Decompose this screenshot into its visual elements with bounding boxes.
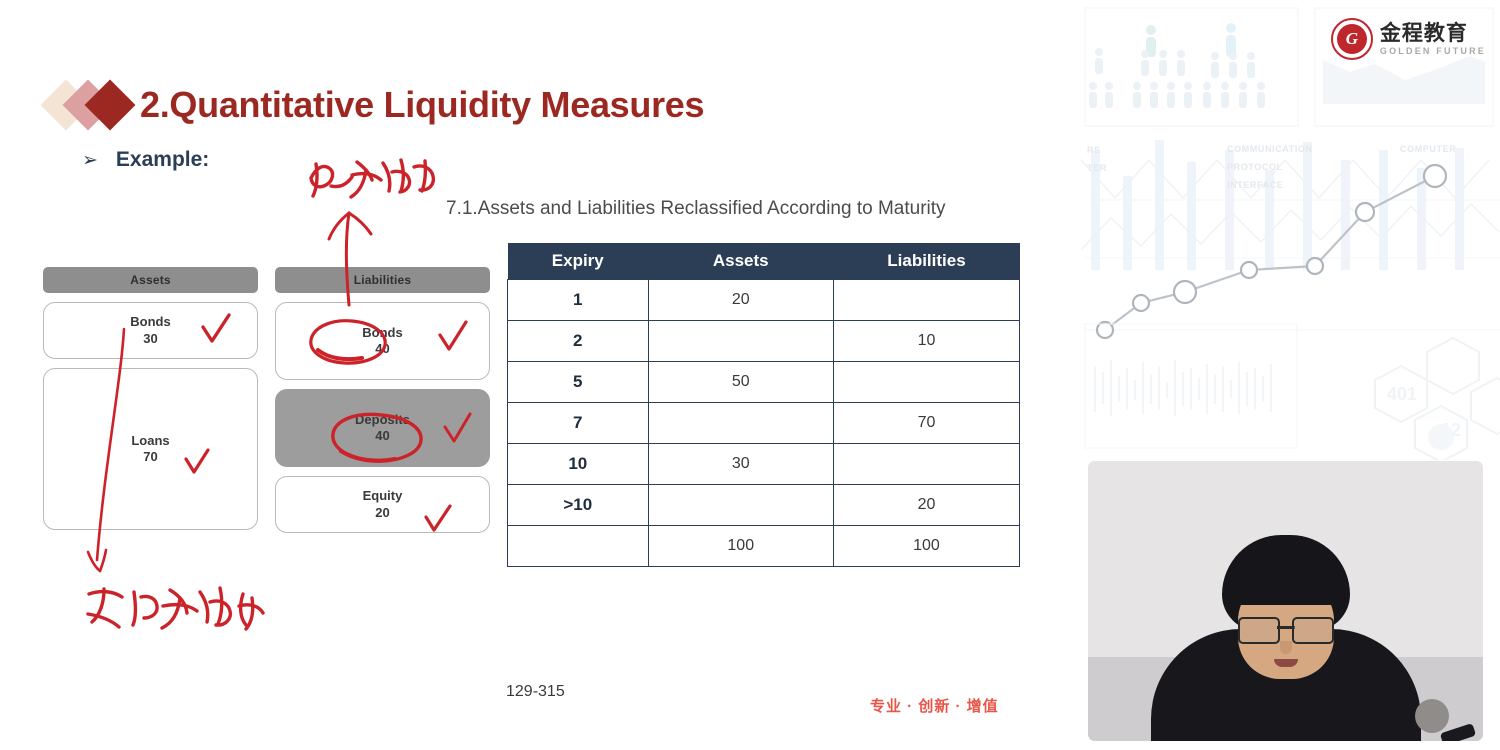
cell-liabilities bbox=[833, 444, 1019, 485]
cell-liabilities: 10 bbox=[833, 321, 1019, 362]
cell-assets: 20 bbox=[648, 280, 833, 321]
assets-column-header: Assets bbox=[43, 267, 258, 293]
slide-area: 2.Quantitative Liquidity Measures ➢ Exam… bbox=[0, 0, 1075, 750]
assets-item-bonds-label: Bonds bbox=[130, 314, 170, 330]
title-diamond-decoration bbox=[48, 78, 134, 132]
brand-logo: G 金程教育 GOLDEN FUTURE bbox=[1331, 18, 1486, 60]
table-col-liabilities: Liabilities bbox=[833, 243, 1019, 280]
art-label-protocol: PROTOCOL bbox=[1227, 162, 1283, 172]
instructor-glasses bbox=[1236, 617, 1336, 641]
brand-name-en: GOLDEN FUTURE bbox=[1380, 46, 1486, 56]
liabilities-item-bonds: Bonds 40 bbox=[275, 302, 490, 380]
table-row: 2 10 bbox=[508, 321, 1020, 362]
handwritten-note-top bbox=[311, 160, 433, 197]
liabilities-column: Liabilities Bonds 40 Deposits 40 Equity … bbox=[275, 267, 490, 533]
cell-assets: 30 bbox=[648, 444, 833, 485]
cell-expiry: 7 bbox=[508, 403, 649, 444]
table-row: 7 70 bbox=[508, 403, 1020, 444]
assets-item-bonds-value: 30 bbox=[130, 331, 170, 347]
cell-expiry: 2 bbox=[508, 321, 649, 362]
liabilities-item-equity-label: Equity bbox=[363, 488, 403, 504]
brand-seal-icon: G bbox=[1331, 18, 1373, 60]
cell-liabilities: 70 bbox=[833, 403, 1019, 444]
cell-expiry: 1 bbox=[508, 280, 649, 321]
example-bullet: ➢ Example: bbox=[82, 148, 209, 172]
liabilities-item-bonds-label: Bonds bbox=[362, 325, 402, 341]
table-col-expiry: Expiry bbox=[508, 243, 649, 280]
slide-title-row: 2.Quantitative Liquidity Measures bbox=[48, 76, 704, 134]
background-artwork: 401 12 bbox=[1075, 0, 1500, 460]
cell-assets bbox=[648, 403, 833, 444]
liabilities-item-deposits: Deposits 40 bbox=[275, 389, 490, 467]
table-row-total: 100 100 bbox=[508, 526, 1020, 567]
cell-expiry: 5 bbox=[508, 362, 649, 403]
presentation-screen: 2.Quantitative Liquidity Measures ➢ Exam… bbox=[0, 0, 1500, 750]
cell-expiry: 10 bbox=[508, 444, 649, 485]
cell-assets bbox=[648, 485, 833, 526]
maturity-table: Expiry Assets Liabilities 1 20 2 10 5 bbox=[507, 243, 1020, 567]
svg-text:401: 401 bbox=[1387, 384, 1417, 404]
section-subtitle: 7.1.Assets and Liabilities Reclassified … bbox=[446, 198, 946, 220]
liabilities-item-equity: Equity 20 bbox=[275, 476, 490, 533]
arrow-bullet-icon: ➢ bbox=[82, 151, 98, 170]
art-label-communication: COMMUNICATION bbox=[1227, 144, 1313, 154]
page-number: 129-315 bbox=[506, 683, 565, 701]
table-col-assets: Assets bbox=[648, 243, 833, 280]
liabilities-item-bonds-value: 40 bbox=[362, 341, 402, 357]
table-header-row: Expiry Assets Liabilities bbox=[508, 243, 1020, 280]
cell-liabilities bbox=[833, 280, 1019, 321]
cell-liabilities-total: 100 bbox=[833, 526, 1019, 567]
instructor-webcam-video[interactable] bbox=[1088, 461, 1483, 741]
cell-assets bbox=[648, 321, 833, 362]
assets-item-bonds: Bonds 30 bbox=[43, 302, 258, 359]
glasses-lens-left bbox=[1238, 617, 1280, 644]
handwritten-note-bottom bbox=[88, 588, 263, 629]
footer-slogan: 专业 · 创新 · 增值 bbox=[870, 695, 999, 716]
right-panel: 401 12 RS TER COMMUNICATION PROTOCOL INT… bbox=[1075, 0, 1500, 750]
glasses-lens-right bbox=[1292, 617, 1334, 644]
liabilities-item-equity-value: 20 bbox=[363, 505, 403, 521]
liabilities-item-deposits-label: Deposits bbox=[355, 412, 410, 428]
liabilities-column-header: Liabilities bbox=[275, 267, 490, 293]
cell-liabilities: 20 bbox=[833, 485, 1019, 526]
instructor-hair-front bbox=[1232, 569, 1340, 605]
assets-item-loans-label: Loans bbox=[131, 433, 169, 449]
table-row: 5 50 bbox=[508, 362, 1020, 403]
example-label: Example: bbox=[116, 148, 209, 172]
assets-column: Assets Bonds 30 Loans 70 bbox=[43, 267, 258, 530]
brand-name-cn: 金程教育 bbox=[1380, 23, 1486, 44]
art-label-computer: COMPUTER bbox=[1400, 144, 1456, 154]
art-label-rs: RS bbox=[1087, 145, 1101, 155]
cell-liabilities bbox=[833, 362, 1019, 403]
cell-expiry bbox=[508, 526, 649, 567]
instructor-nose bbox=[1280, 641, 1292, 654]
table-row: 10 30 bbox=[508, 444, 1020, 485]
assets-item-loans: Loans 70 bbox=[43, 368, 258, 530]
art-label-interface: INTERFACE bbox=[1227, 180, 1283, 190]
table-row: 1 20 bbox=[508, 280, 1020, 321]
microphone-icon bbox=[1415, 699, 1449, 733]
page-title: 2.Quantitative Liquidity Measures bbox=[140, 84, 704, 126]
table-row: >10 20 bbox=[508, 485, 1020, 526]
cell-assets-total: 100 bbox=[648, 526, 833, 567]
brand-seal-letter: G bbox=[1346, 29, 1358, 49]
liabilities-item-deposits-value: 40 bbox=[355, 428, 410, 444]
assets-item-loans-value: 70 bbox=[131, 449, 169, 465]
instructor-head bbox=[1222, 535, 1350, 683]
cell-expiry: >10 bbox=[508, 485, 649, 526]
cell-assets: 50 bbox=[648, 362, 833, 403]
art-label-ter: TER bbox=[1087, 163, 1107, 173]
